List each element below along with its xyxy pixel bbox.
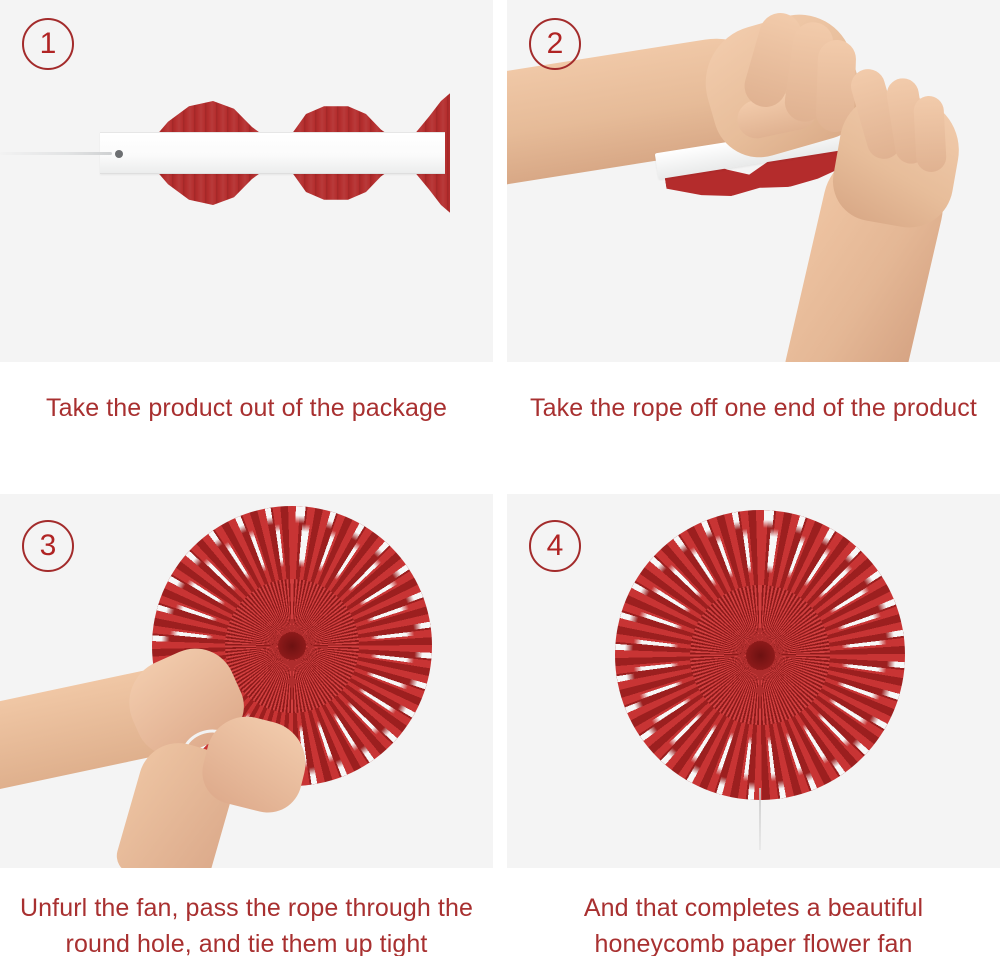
step-4-image: 4 xyxy=(507,494,1000,868)
hanging-thread xyxy=(759,788,761,850)
step-number-badge-4: 4 xyxy=(529,520,581,572)
eyelet-icon xyxy=(115,150,123,158)
step-3-image: 3 xyxy=(0,494,493,868)
hands-unfurling-fan-scene xyxy=(0,494,493,868)
step-number-badge-3: 3 xyxy=(22,520,74,572)
step-caption-3-line-1: Unfurl the fan, pass the rope through th… xyxy=(6,890,487,926)
step-panel-4: 4 And that completes a beautiful honeyco… xyxy=(507,494,1000,956)
fan-hub xyxy=(746,641,775,670)
step-caption-4-line-2: honeycomb paper flower fan xyxy=(513,926,994,956)
step-panel-3: 3 Unfurl the fan, pass the rop xyxy=(0,494,493,956)
step-caption-4-line-1: And that completes a beautiful xyxy=(513,890,994,926)
step-2-image: 2 xyxy=(507,0,1000,362)
step-caption-1: Take the product out of the package xyxy=(0,362,493,426)
paper-fan-finished xyxy=(615,510,905,800)
paper-band-wrapper xyxy=(100,132,445,174)
step-1-image: 1 xyxy=(0,0,493,362)
step-number-badge-2: 2 xyxy=(529,18,581,70)
step-panel-2: 2 Take the rope off one end of the xyxy=(507,0,1000,478)
step-caption-4: And that completes a beautiful honeycomb… xyxy=(507,868,1000,956)
step-caption-2: Take the rope off one end of the product xyxy=(507,362,1000,426)
step-caption-3-line-2: round hole, and tie them up tight xyxy=(6,926,487,956)
hands-removing-rope-scene xyxy=(507,0,1000,362)
right-finger-3 xyxy=(913,95,947,172)
step-panel-1: 1 Take the product out of the package xyxy=(0,0,493,478)
hanging-rope xyxy=(0,152,112,155)
folded-fan-group xyxy=(100,88,450,218)
folded-fan-scene xyxy=(0,0,493,362)
fan-hub xyxy=(278,632,306,660)
step-caption-3: Unfurl the fan, pass the rope through th… xyxy=(0,868,493,956)
instruction-sheet: 1 Take the product out of the package 2 xyxy=(0,0,1000,956)
step-number-badge-1: 1 xyxy=(22,18,74,70)
